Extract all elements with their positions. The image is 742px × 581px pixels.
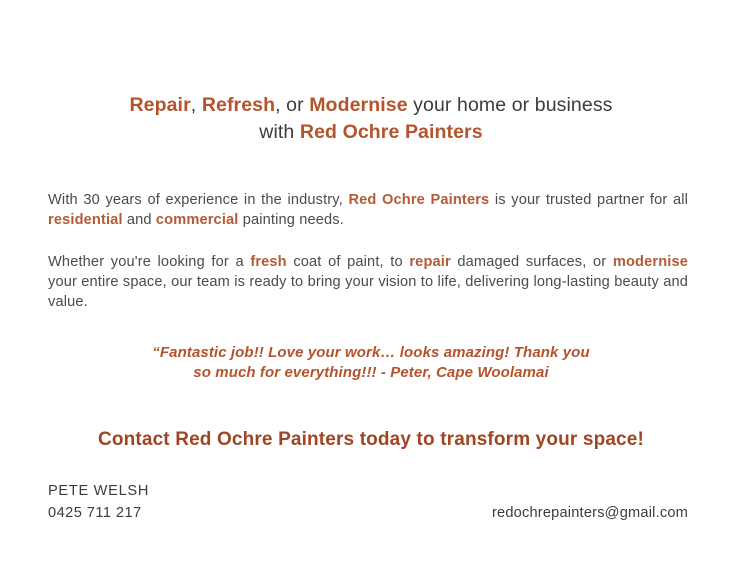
p1-keyword-residential: residential	[48, 212, 123, 228]
headline-line-1-tail: your home or business	[408, 94, 613, 116]
p2-part-4: your entire space, our team is ready to …	[48, 274, 688, 310]
p2-keyword-fresh: fresh	[250, 254, 286, 270]
contact-email-address[interactable]: redochrepainters@gmail.com	[492, 503, 688, 524]
p1-brand-name: Red Ochre Painters	[348, 192, 489, 208]
p1-part-3: and	[123, 212, 156, 228]
headline-word-modernise: Modernise	[309, 94, 407, 116]
testimonial-line-1: “Fantastic job!! Love your work… looks a…	[0, 343, 742, 363]
p2-keyword-repair: repair	[409, 254, 450, 270]
paragraph-services: Whether you're looking for a fresh coat …	[48, 252, 688, 312]
headline-word-repair: Repair	[129, 94, 190, 116]
testimonial-line-2: so much for everything!!! - Peter, Cape …	[0, 363, 742, 383]
headline-word-refresh: Refresh	[202, 94, 275, 116]
paragraph-experience: With 30 years of experience in the indus…	[48, 190, 688, 230]
p1-keyword-commercial: commercial	[156, 212, 239, 228]
headline-line-2-lead: with	[259, 121, 300, 143]
p1-part-2: is your trusted partner for all	[489, 192, 688, 208]
headline-sep-2: , or	[275, 94, 309, 116]
headline-brand-name: Red Ochre Painters	[300, 121, 483, 143]
p2-part-1: Whether you're looking for a	[48, 254, 250, 270]
headline: Repair, Refresh, or Modernise your home …	[0, 92, 742, 146]
p1-part-4: painting needs.	[239, 212, 344, 228]
p2-part-2: coat of paint, to	[287, 254, 410, 270]
p2-keyword-modernise: modernise	[613, 254, 688, 270]
headline-sep-1: ,	[191, 94, 202, 116]
contact-person-name: PETE WELSH	[48, 481, 149, 502]
flyer-page: Repair, Refresh, or Modernise your home …	[0, 0, 742, 581]
footer-contact-left: PETE WELSH 0425 711 217	[48, 481, 149, 524]
p1-part-1: With 30 years of experience in the indus…	[48, 192, 348, 208]
body-copy: With 30 years of experience in the indus…	[48, 190, 688, 312]
customer-testimonial: “Fantastic job!! Love your work… looks a…	[0, 343, 742, 382]
p2-part-3: damaged surfaces, or	[451, 254, 613, 270]
headline-line-1: Repair, Refresh, or Modernise your home …	[0, 92, 742, 119]
call-to-action: Contact Red Ochre Painters today to tran…	[0, 427, 742, 453]
headline-line-2: with Red Ochre Painters	[0, 119, 742, 146]
contact-phone-number[interactable]: 0425 711 217	[48, 503, 149, 524]
footer-contact: PETE WELSH 0425 711 217 redochrepainters…	[48, 481, 688, 531]
